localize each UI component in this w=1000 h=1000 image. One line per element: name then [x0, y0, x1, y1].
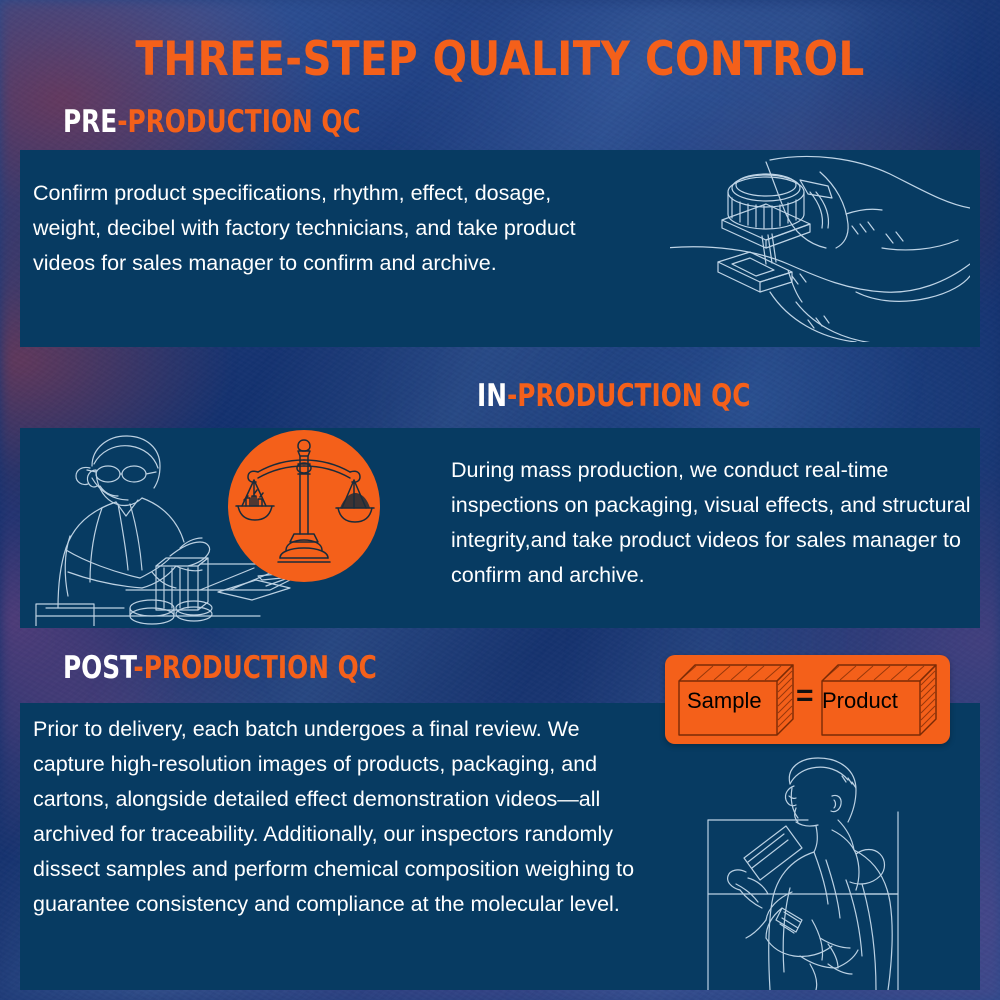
sample-box-label: Sample: [687, 688, 762, 714]
sample-equals-product-badge: Sample = Product: [665, 655, 950, 744]
heading-suffix-in: -PRODUCTION QC: [507, 378, 750, 414]
body-text-in-production: During mass production, we conduct real-…: [451, 453, 981, 593]
section-heading-in-production: IN-PRODUCTION QC: [477, 378, 750, 414]
balance-scale-icon: [228, 430, 380, 582]
heading-suffix-post: -PRODUCTION QC: [133, 650, 376, 686]
equals-sign: =: [796, 679, 814, 713]
heading-prefix-in: IN: [477, 378, 507, 414]
body-text-post-production: Prior to delivery, each batch undergoes …: [33, 712, 653, 922]
section-heading-pre-production: PRE-PRODUCTION QC: [63, 104, 361, 140]
infographic-canvas: THREE-STEP QUALITY CONTROL PRE-PRODUCTIO…: [0, 0, 1000, 1000]
body-text-pre-production: Confirm product specifications, rhythm, …: [33, 176, 593, 281]
heading-prefix-post: POST: [63, 650, 133, 686]
product-box-label: Product: [822, 688, 898, 714]
heading-prefix-pre: PRE: [63, 104, 117, 140]
page-title: THREE-STEP QUALITY CONTROL: [70, 32, 930, 87]
heading-suffix-pre: -PRODUCTION QC: [117, 104, 360, 140]
section-heading-post-production: POST-PRODUCTION QC: [63, 650, 377, 686]
